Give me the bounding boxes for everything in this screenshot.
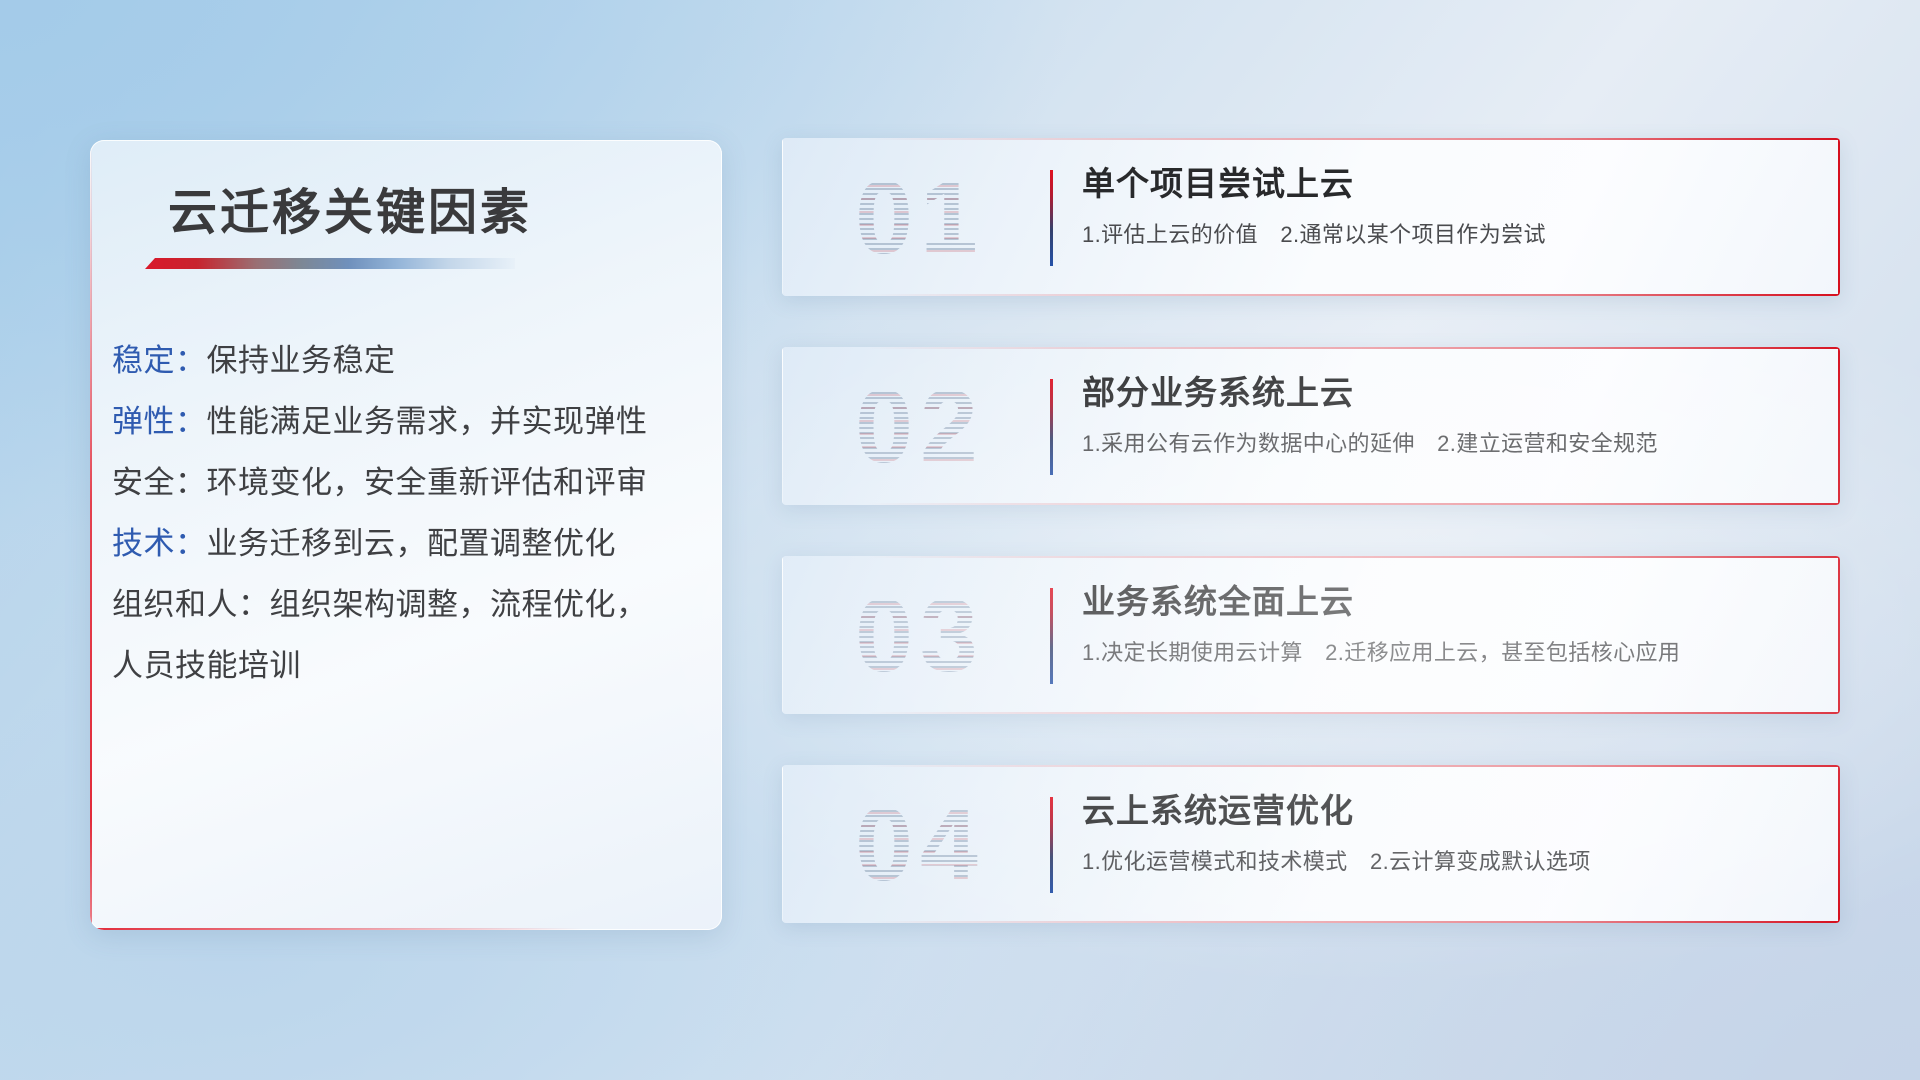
card-title: 单个项目尝试上云 (1082, 160, 1816, 208)
card-content: 部分业务系统上云 1.采用公有云作为数据中心的延伸 2.建立运营和安全规范 (1082, 369, 1816, 459)
card-right-accent (1838, 347, 1840, 505)
factor-label: 弹性： (112, 404, 207, 439)
page-title: 云迁移关键因素 (168, 173, 532, 244)
card-right-accent (1838, 765, 1840, 923)
key-factors-panel: 云迁移关键因素 稳定：保持业务稳定 弹性：性能满足业务需求，并实现弹性 安全：环… (90, 140, 722, 930)
list-item: 人员技能培训 (112, 635, 706, 696)
stage-number-graphic: 04 04 (782, 765, 1052, 923)
factor-value: 性能满足业务需求，并实现弹性 (207, 404, 648, 439)
stage-number-tint: 01 (810, 148, 1030, 288)
list-item: 弹性：性能满足业务需求，并实现弹性 (112, 391, 706, 452)
title-underline-gradient (145, 258, 515, 269)
list-item: 稳定：保持业务稳定 (112, 330, 706, 391)
panel-bottom-accent-bar (90, 928, 583, 930)
factor-value: 环境变化，安全重新评估和评审 (207, 465, 648, 500)
list-item: 安全：环境变化，安全重新评估和评审 (112, 452, 706, 513)
card-right-accent (1838, 556, 1840, 714)
card-subtitle: 1.采用公有云作为数据中心的延伸 2.建立运营和安全规范 (1082, 429, 1816, 459)
card-right-accent (1838, 138, 1840, 296)
stage-card[interactable]: 04 04 云上系统运营优化 1.优化运营模式和技术模式 2.云计算变成默认选项 (782, 765, 1840, 923)
factor-value: 人员技能培训 (112, 648, 301, 683)
card-content: 单个项目尝试上云 1.评估上云的价值 2.通常以某个项目作为尝试 (1082, 160, 1816, 250)
factor-value: 保持业务稳定 (207, 343, 396, 378)
card-title: 云上系统运营优化 (1082, 787, 1816, 835)
card-content: 云上系统运营优化 1.优化运营模式和技术模式 2.云计算变成默认选项 (1082, 787, 1816, 877)
factor-value: 组织架构调整，流程优化， (270, 587, 648, 622)
list-item: 技术：业务迁移到云，配置调整优化 (112, 513, 706, 574)
card-title: 业务系统全面上云 (1082, 578, 1816, 626)
card-divider-bar (1050, 797, 1053, 893)
factor-value: 业务迁移到云，配置调整优化 (207, 526, 617, 561)
factor-label: 组织和人： (112, 587, 270, 622)
stage-number-tint: 03 (810, 566, 1030, 706)
factor-label: 稳定： (112, 343, 207, 378)
factor-label: 安全： (112, 465, 207, 500)
card-divider-bar (1050, 379, 1053, 475)
stage-number-graphic: 03 03 (782, 556, 1052, 714)
factor-label: 技术： (112, 526, 207, 561)
stage-card[interactable]: 01 01 单个项目尝试上云 1.评估上云的价值 2.通常以某个项目作为尝试 (782, 138, 1840, 296)
card-divider-bar (1050, 170, 1053, 266)
stage-number-tint: 04 (810, 775, 1030, 915)
stage-number-graphic: 02 02 (782, 347, 1052, 505)
stage-card[interactable]: 02 02 部分业务系统上云 1.采用公有云作为数据中心的延伸 2.建立运营和安… (782, 347, 1840, 505)
card-subtitle: 1.优化运营模式和技术模式 2.云计算变成默认选项 (1082, 847, 1816, 877)
card-subtitle: 1.评估上云的价值 2.通常以某个项目作为尝试 (1082, 220, 1816, 250)
card-divider-bar (1050, 588, 1053, 684)
list-item: 组织和人：组织架构调整，流程优化， (112, 574, 706, 635)
stage-card-list: 01 01 单个项目尝试上云 1.评估上云的价值 2.通常以某个项目作为尝试 0… (782, 138, 1840, 974)
stage-number-tint: 02 (810, 357, 1030, 497)
panel-left-accent-bar (90, 140, 92, 930)
card-title: 部分业务系统上云 (1082, 369, 1816, 417)
slide-canvas: 云迁移关键因素 稳定：保持业务稳定 弹性：性能满足业务需求，并实现弹性 安全：环… (0, 0, 1920, 1080)
card-content: 业务系统全面上云 1.决定长期使用云计算 2.迁移应用上云，甚至包括核心应用 (1082, 578, 1816, 668)
key-factors-list: 稳定：保持业务稳定 弹性：性能满足业务需求，并实现弹性 安全：环境变化，安全重新… (112, 330, 706, 696)
stage-card[interactable]: 03 03 业务系统全面上云 1.决定长期使用云计算 2.迁移应用上云，甚至包括… (782, 556, 1840, 714)
stage-number-graphic: 01 01 (782, 138, 1052, 296)
card-subtitle: 1.决定长期使用云计算 2.迁移应用上云，甚至包括核心应用 (1082, 638, 1816, 668)
